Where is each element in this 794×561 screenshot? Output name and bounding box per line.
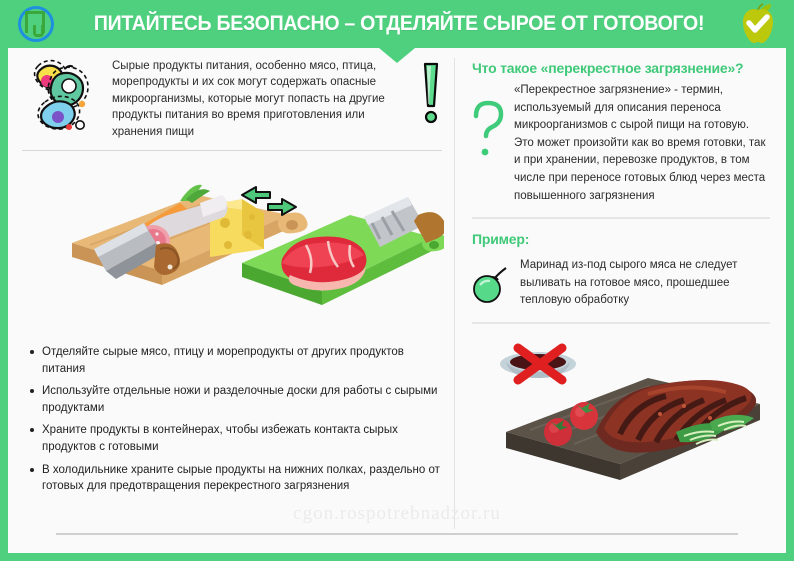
apple-check-icon bbox=[736, 2, 780, 46]
header-notch bbox=[379, 48, 415, 63]
right-column: Что такое «перекрестное загрязнение»? «П… bbox=[454, 48, 786, 553]
list-item: Храните продукты в контейнерах, чтобы из… bbox=[42, 422, 440, 455]
question-mark-icon bbox=[470, 100, 504, 162]
question-heading: Что такое «перекрестное загрязнение»? bbox=[472, 60, 772, 76]
bacteria-icon bbox=[20, 56, 106, 140]
left-divider-1 bbox=[22, 150, 442, 151]
right-divider-2 bbox=[472, 322, 770, 324]
right-divider-1 bbox=[472, 217, 770, 219]
question-text: «Перекрестное загрязнение» - термин, исп… bbox=[514, 82, 772, 205]
example-heading: Пример: bbox=[472, 231, 772, 247]
exclamation-mark-icon bbox=[418, 60, 444, 130]
example-block: Маринад из-под сырого мяса не следует вы… bbox=[470, 253, 772, 310]
recommendations-list: Отделяйте сырые мясо, птицу и морепродук… bbox=[20, 344, 444, 495]
marinade-drop-icon bbox=[470, 261, 510, 305]
logo-monogram bbox=[25, 11, 45, 33]
list-item: Используйте отдельные ножи и разделочные… bbox=[42, 383, 440, 416]
header-bar: ПИТАЙТЕСЬ БЕЗОПАСНО – ОТДЕЛЯЙТЕ СЫРОЕ ОТ… bbox=[8, 0, 786, 48]
question-block: «Перекрестное загрязнение» - термин, исп… bbox=[470, 82, 772, 205]
left-column: Сырые продукты питания, особенно мясо, п… bbox=[8, 48, 454, 553]
intro-block: Сырые продукты питания, особенно мясо, п… bbox=[20, 56, 444, 140]
cutting-boards-illustration bbox=[20, 153, 444, 338]
page-title: ПИТАЙТЕСЬ БЕЗОПАСНО – ОТДЕЛЯЙТЕ СЫРОЕ ОТ… bbox=[86, 12, 713, 36]
list-item: Отделяйте сырые мясо, птицу и морепродук… bbox=[42, 344, 440, 377]
list-item: В холодильнике храните сырые продукты на… bbox=[42, 462, 440, 495]
cooked-steak-illustration bbox=[470, 336, 772, 486]
intro-text: Сырые продукты питания, особенно мясо, п… bbox=[112, 56, 412, 140]
rospotrebnadzor-logo bbox=[16, 4, 56, 44]
infographic-poster: ПИТАЙТЕСЬ БЕЗОПАСНО – ОТДЕЛЯЙТЕ СЫРОЕ ОТ… bbox=[0, 0, 794, 561]
content-panel: Сырые продукты питания, особенно мясо, п… bbox=[8, 48, 786, 553]
footer-line bbox=[56, 533, 738, 535]
marinade-bowl-forbidden bbox=[500, 348, 576, 380]
example-text: Маринад из-под сырого мяса не следует вы… bbox=[520, 253, 772, 310]
